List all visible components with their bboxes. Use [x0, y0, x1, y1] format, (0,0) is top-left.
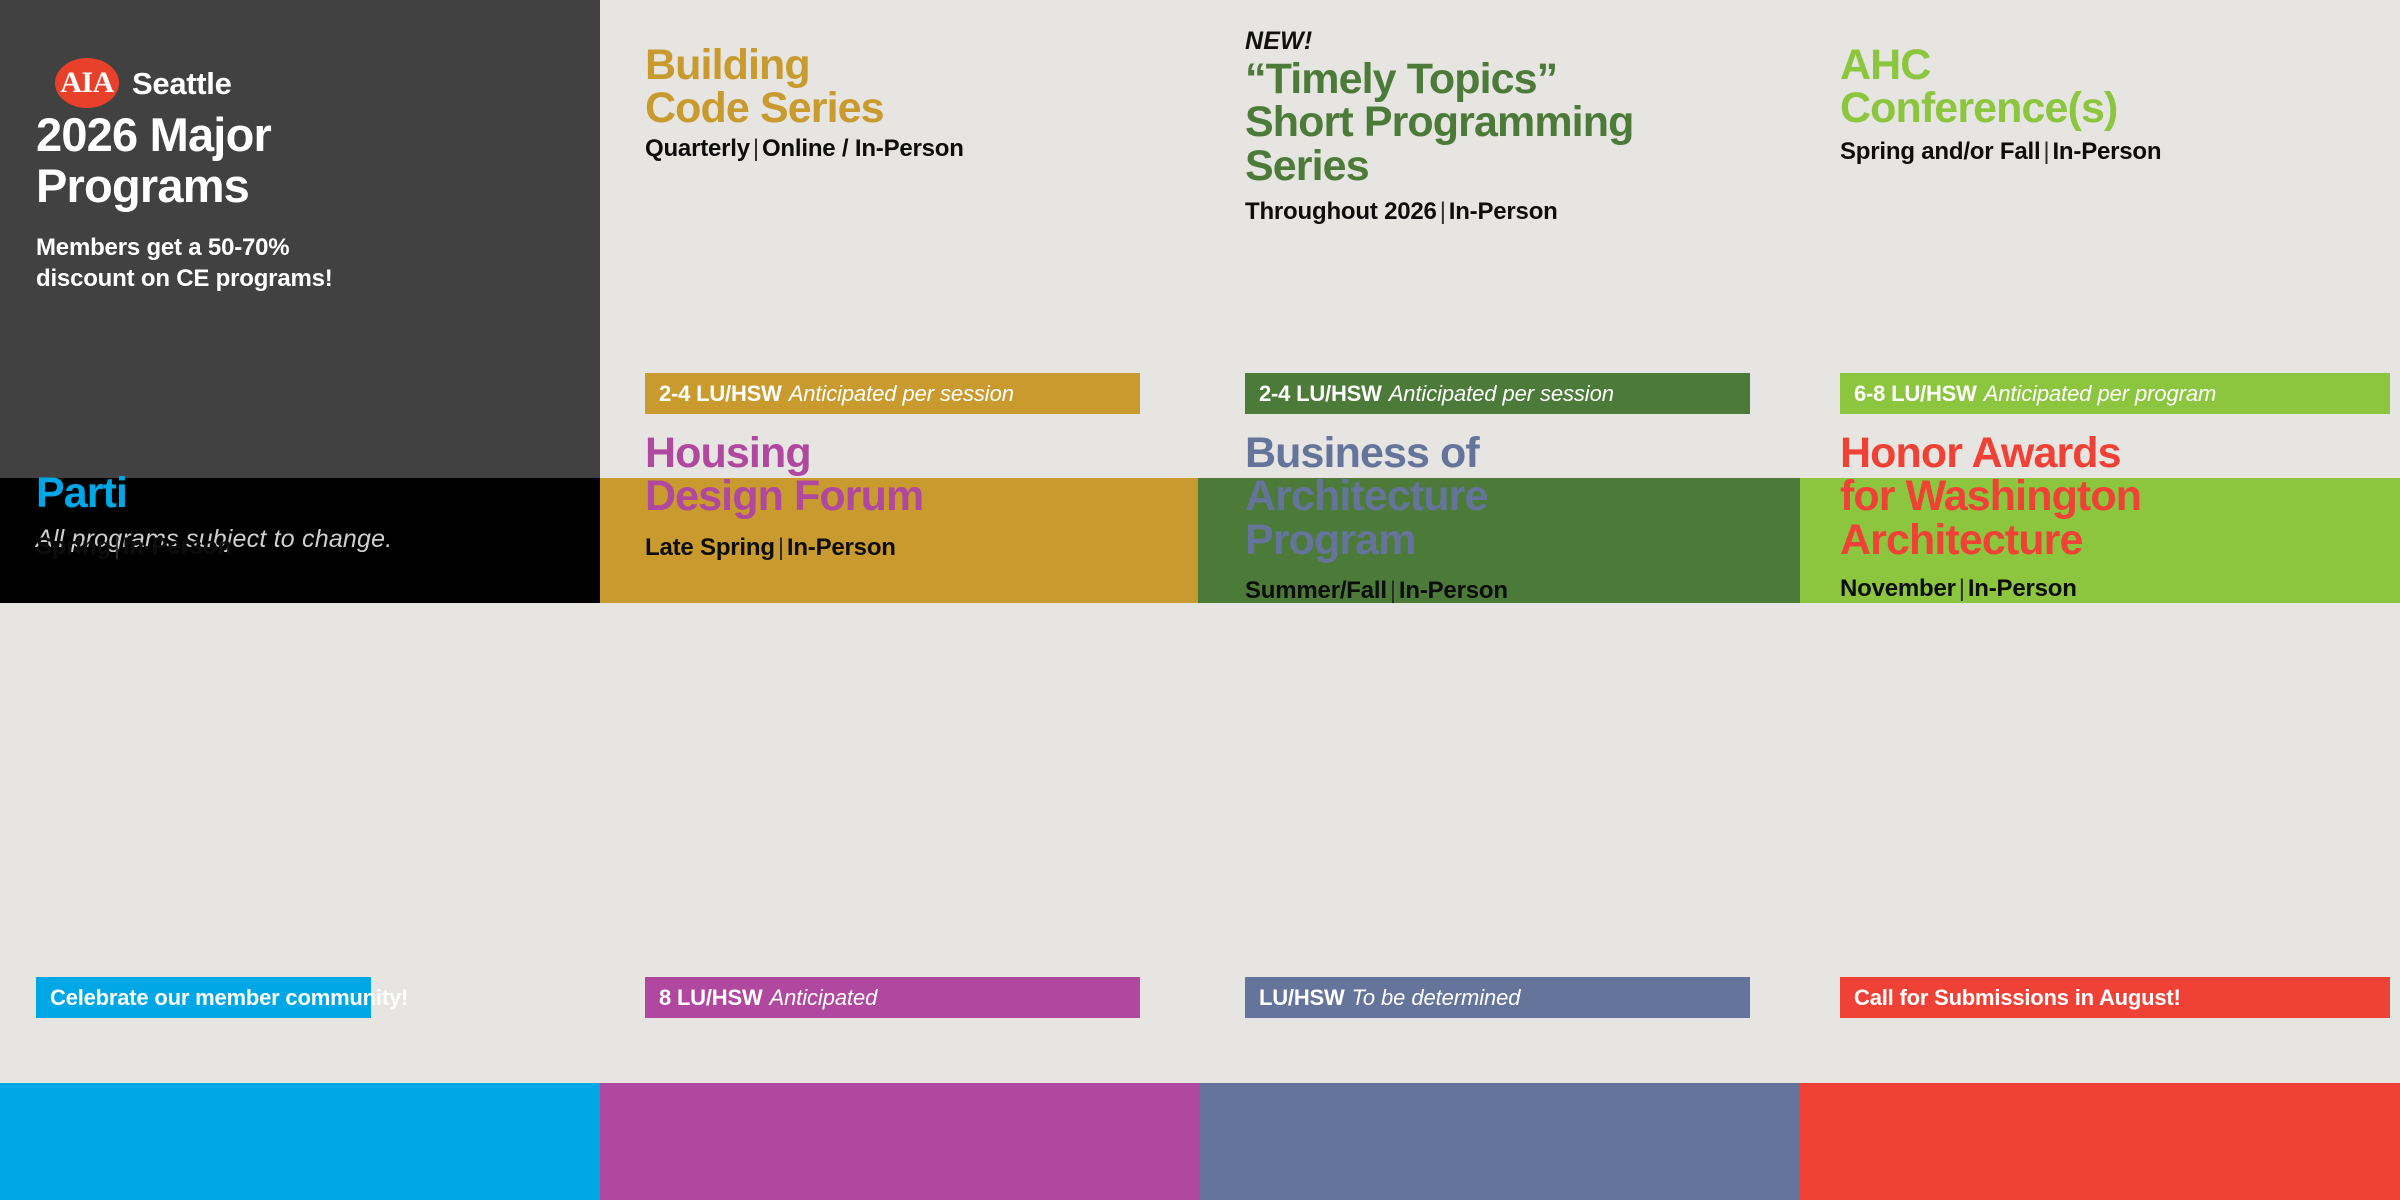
card-schedule-housing-design-forum: Late Spring|In-Person: [645, 534, 896, 562]
badge-note: Anticipated per session: [1389, 381, 1614, 407]
badge-callout: Celebrate our member community!: [50, 985, 408, 1011]
card-season: Throughout 2026: [1245, 198, 1437, 225]
card-badge-honor-awards-for-washington-architecture: Call for Submissions in August!: [1840, 977, 2390, 1018]
aia-monogram: AIA: [60, 68, 114, 98]
card-badge-parti: Celebrate our member community!: [36, 977, 371, 1018]
card-format: In-Person: [1399, 577, 1508, 604]
card-schedule-ahc-conferences: Spring and/or Fall|In-Person: [1840, 138, 2161, 166]
card-badge-ahc-conferences: 6-8 LU/HSWAnticipated per program: [1840, 373, 2390, 414]
aia-wordmark: Seattle: [132, 68, 232, 99]
card-season: Late Spring: [645, 534, 775, 561]
card-format: In-Person: [2052, 138, 2161, 165]
card-title-building-code-series: Building Code Series: [645, 44, 1180, 131]
card-schedule-parti: Spring|In-Person: [36, 533, 232, 561]
card-title-parti: Parti: [36, 472, 411, 515]
color-band-business: [1200, 1083, 1800, 1200]
card-season: Spring and/or Fall: [1840, 138, 2040, 165]
card-schedule-business-of-architecture-program: Summer/Fall|In-Person: [1245, 577, 1508, 605]
card-badge-housing-design-forum: 8 LU/HSWAnticipated: [645, 977, 1140, 1018]
badge-credits: 2-4 LU/HSW: [1259, 381, 1382, 407]
badge-credits: 6-8 LU/HSW: [1854, 381, 1977, 407]
card-title-ahc-conferences: AHC Conference(s): [1840, 44, 2400, 131]
card-format: In-Person: [787, 534, 896, 561]
meta-separator: |: [1956, 575, 1968, 602]
card-schedule-honor-awards-for-washington-architecture: November|In-Person: [1840, 575, 2077, 603]
badge-note: To be determined: [1352, 985, 1521, 1011]
badge-credits: 2-4 LU/HSW: [659, 381, 782, 407]
infographic-canvas: AIA Seattle 2026 Major Programs Members …: [0, 0, 2400, 1200]
card-badge-business-of-architecture-program: LU/HSWTo be determined: [1245, 977, 1750, 1018]
card-title-honor-awards-for-washington-architecture: Honor Awards for Washington Architecture: [1840, 432, 2400, 562]
badge-note: Anticipated per session: [789, 381, 1014, 407]
badge-note: Anticipated per program: [1984, 381, 2217, 407]
card-format: In-Person: [1968, 575, 2077, 602]
badge-note: Anticipated: [770, 985, 878, 1011]
aia-seattle-logo: AIA Seattle: [55, 57, 232, 109]
card-eyebrow-timely-topics-short-programming-series: NEW!: [1245, 27, 1312, 56]
card-format: In-Person: [123, 533, 232, 560]
card-format: Online / In-Person: [762, 135, 964, 162]
badge-credits: LU/HSW: [1259, 985, 1345, 1011]
color-band-honor-awards: [1800, 1083, 2400, 1200]
meta-separator: |: [2040, 138, 2052, 165]
card-badge-building-code-series: 2-4 LU/HSWAnticipated per session: [645, 373, 1140, 414]
card-season: Quarterly: [645, 135, 750, 162]
page-title: 2026 Major Programs: [36, 110, 556, 212]
card-title-timely-topics-short-programming-series: “Timely Topics” Short Programming Series: [1245, 58, 1790, 188]
aia-circle-icon: AIA: [55, 58, 119, 108]
card-format: In-Person: [1449, 198, 1558, 225]
badge-callout: Call for Submissions in August!: [1854, 985, 2181, 1011]
badge-credits: 8 LU/HSW: [659, 985, 763, 1011]
card-season: Spring: [36, 533, 111, 560]
card-season: Summer/Fall: [1245, 577, 1387, 604]
meta-separator: |: [775, 534, 787, 561]
card-title-housing-design-forum: Housing Design Forum: [645, 432, 1180, 519]
card-badge-timely-topics-short-programming-series: 2-4 LU/HSWAnticipated per session: [1245, 373, 1750, 414]
meta-separator: |: [1387, 577, 1399, 604]
member-discount-note: Members get a 50-70% discount on CE prog…: [36, 233, 336, 294]
meta-separator: |: [1437, 198, 1449, 225]
card-schedule-timely-topics-short-programming-series: Throughout 2026|In-Person: [1245, 198, 1558, 226]
meta-separator: |: [750, 135, 762, 162]
card-season: November: [1840, 575, 1956, 602]
color-band-parti: [0, 1083, 600, 1200]
meta-separator: |: [111, 533, 123, 560]
card-title-business-of-architecture-program: Business of Architecture Program: [1245, 432, 1790, 562]
color-band-housing: [600, 1083, 1200, 1200]
card-schedule-building-code-series: Quarterly|Online / In-Person: [645, 135, 964, 163]
